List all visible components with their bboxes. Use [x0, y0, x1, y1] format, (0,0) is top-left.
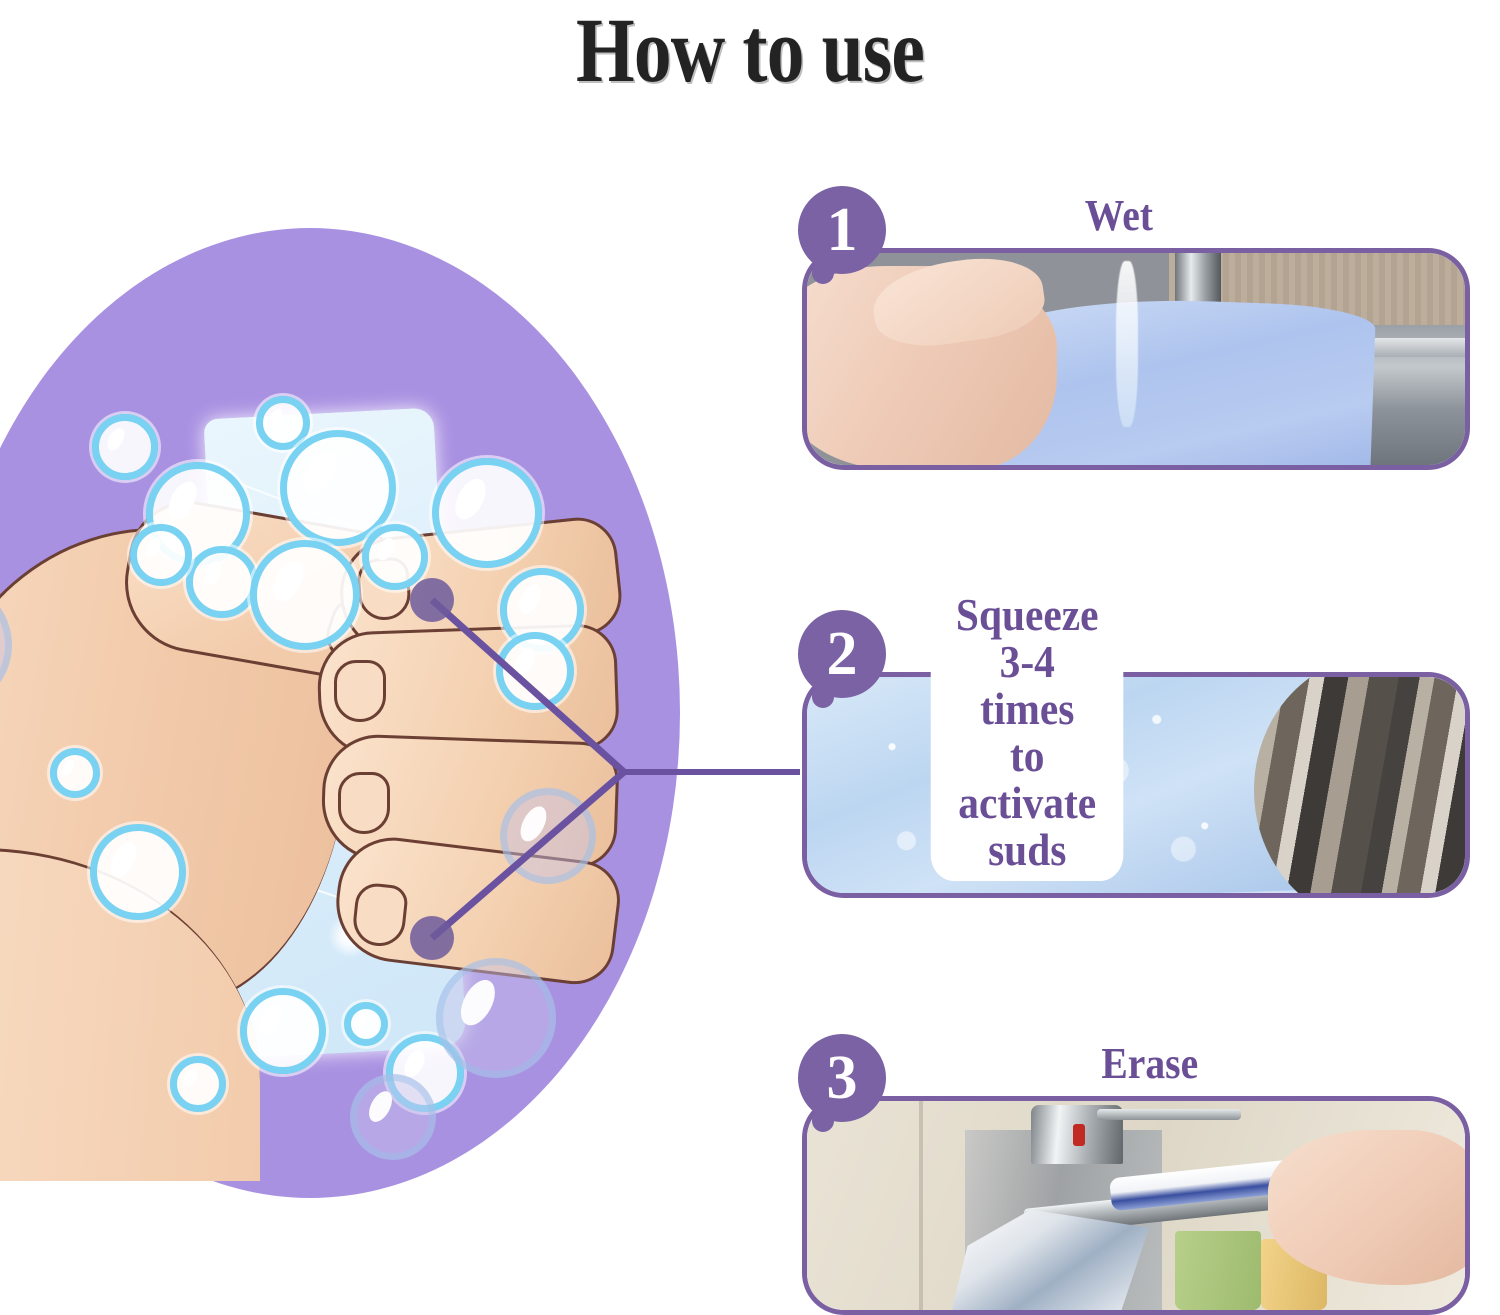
water-stream	[1116, 261, 1138, 426]
step-1-photo-card[interactable]	[802, 248, 1470, 470]
infographic-page: How to use	[0, 0, 1500, 1315]
soap-bubble	[170, 1056, 226, 1112]
soap-bubble	[240, 988, 326, 1074]
soap-bubble-faint	[500, 788, 596, 884]
stainless-pot	[1254, 672, 1470, 898]
green-cup	[1175, 1231, 1261, 1310]
step-2-photo-card[interactable]	[802, 672, 1470, 898]
soap-bubble-faint	[436, 958, 556, 1078]
wall-seam	[919, 1101, 923, 1310]
soap-bubble	[130, 524, 192, 586]
page-title: How to use	[135, 2, 1365, 99]
step-1-caption: Wet	[1061, 192, 1176, 245]
soap-bubble-faint	[350, 1074, 436, 1160]
step-2-badge: 2	[798, 610, 886, 698]
soap-bubble	[50, 748, 100, 798]
soap-bubble	[250, 540, 360, 650]
soap-bubble	[362, 524, 428, 590]
step-3-caption: Erase	[1078, 1040, 1222, 1093]
soap-bubble	[186, 546, 258, 618]
soap-bubble	[432, 458, 542, 568]
soap-bubble	[92, 414, 158, 480]
soap-bubble	[344, 1002, 388, 1046]
step-3-badge: 3	[798, 1034, 886, 1122]
step-3-photo	[807, 1101, 1465, 1310]
step-1-photo	[807, 253, 1465, 465]
step-1-badge: 1	[798, 186, 886, 274]
faucet-handle[interactable]	[1097, 1109, 1242, 1119]
hand-photo	[1268, 1130, 1470, 1285]
how-to-use-illustration	[0, 228, 680, 1218]
soap-bubble	[90, 824, 186, 920]
finger-nail	[334, 660, 386, 722]
finger-nail	[338, 772, 390, 834]
soap-bubble	[496, 632, 574, 710]
step-2-caption: Squeeze 3-4 times to activate suds	[931, 588, 1124, 881]
faucet-indicator-dot	[1073, 1124, 1085, 1146]
step-3-photo-card[interactable]	[802, 1096, 1470, 1315]
step-2-photo	[807, 677, 1465, 893]
